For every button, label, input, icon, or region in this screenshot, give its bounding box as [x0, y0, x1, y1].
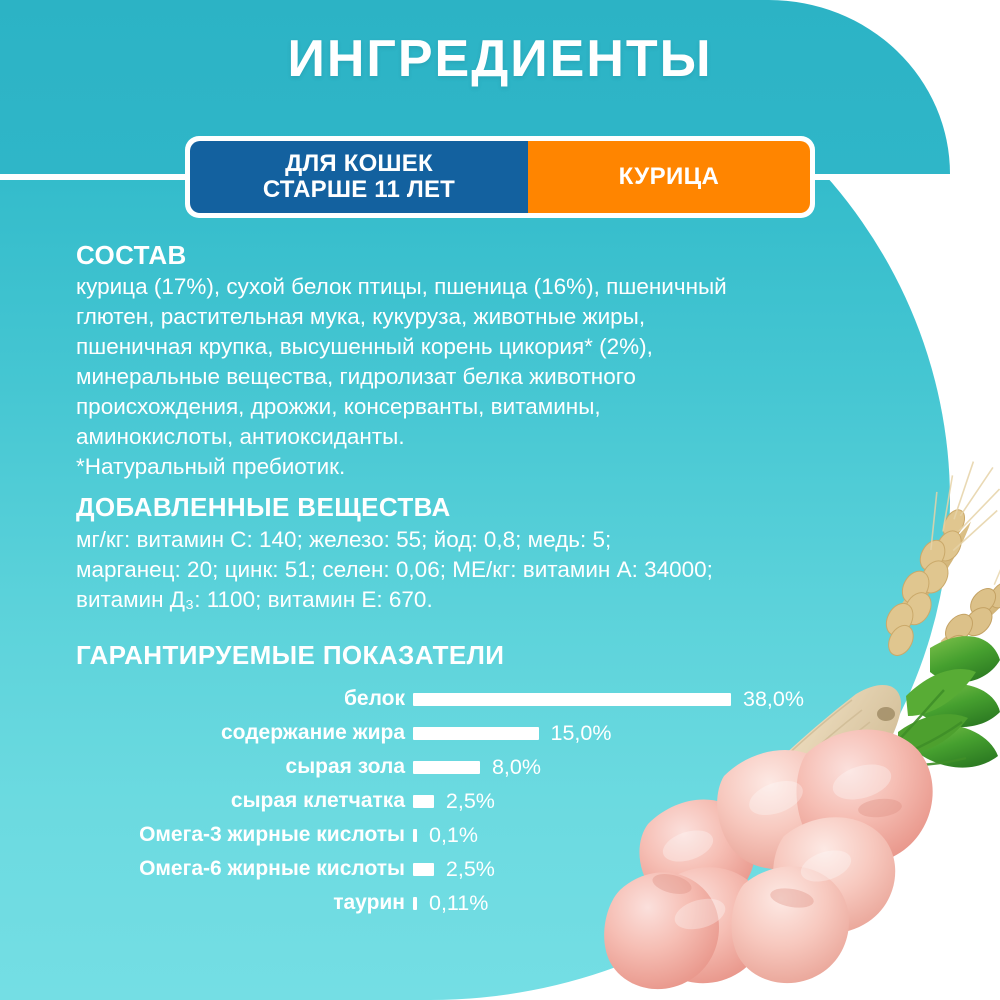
badge-flavor-label: КУРИЦА [619, 163, 720, 191]
chart-row-bar [413, 829, 417, 842]
ingredients-infographic: ИНГРЕДИЕНТЫ ДЛЯ КОШЕК СТАРШЕ 11 ЛЕТ КУРИ… [0, 0, 1000, 1000]
badge-age-line2: СТАРШЕ 11 ЛЕТ [263, 176, 455, 203]
chart-row: содержание жира15,0% [0, 716, 1000, 750]
chart-row-value: 0,11% [429, 891, 488, 916]
chart-row-label: сырая клетчатка [0, 789, 405, 813]
chart-row-label: сырая зола [0, 755, 405, 779]
chart-row: Омега-3 жирные кислоты0,1% [0, 818, 1000, 852]
chart-row: таурин0,11% [0, 886, 1000, 920]
composition-heading: СОСТАВ [76, 240, 187, 271]
chart-row-bar [413, 693, 731, 706]
chart-row-bar [413, 727, 539, 740]
chart-row-value: 8,0% [492, 755, 541, 780]
chart-row-bar [413, 863, 434, 876]
chart-row-value: 0,1% [429, 823, 478, 848]
chart-row-label: Омега-6 жирные кислоты [0, 857, 405, 881]
chart-row-value: 38,0% [743, 687, 804, 712]
chart-row-value: 15,0% [551, 721, 612, 746]
chart-row: сырая зола8,0% [0, 750, 1000, 784]
chart-row-label: содержание жира [0, 721, 405, 745]
chart-row: белок38,0% [0, 682, 1000, 716]
guaranteed-analysis-heading: ГАРАНТИРУЕМЫЕ ПОКАЗАТЕЛИ [76, 640, 504, 671]
additives-text: мг/кг: витамин С: 140; железо: 55; йод: … [76, 525, 876, 615]
chart-row-value: 2,5% [446, 857, 495, 882]
badge-flavor-segment: КУРИЦА [528, 141, 810, 213]
badge-age-line1: ДЛЯ КОШЕК [285, 150, 433, 177]
chart-row-bar [413, 761, 480, 774]
chart-row-value: 2,5% [446, 789, 495, 814]
guaranteed-analysis-chart: белок38,0%содержание жира15,0%сырая зола… [0, 682, 1000, 920]
product-badge: ДЛЯ КОШЕК СТАРШЕ 11 ЛЕТ КУРИЦА [185, 136, 815, 218]
additives-heading: ДОБАВЛЕННЫЕ ВЕЩЕСТВА [76, 492, 451, 523]
chart-row-bar [413, 897, 417, 910]
chart-row-bar [413, 795, 434, 808]
composition-text: курица (17%), сухой белок птицы, пшеница… [76, 272, 876, 481]
chart-row-label: таурин [0, 891, 405, 915]
badge-age-segment: ДЛЯ КОШЕК СТАРШЕ 11 ЛЕТ [190, 141, 528, 213]
chart-row: Омега-6 жирные кислоты2,5% [0, 852, 1000, 886]
chart-row: сырая клетчатка2,5% [0, 784, 1000, 818]
chart-row-label: белок [0, 687, 405, 711]
chart-row-label: Омега-3 жирные кислоты [0, 823, 405, 847]
